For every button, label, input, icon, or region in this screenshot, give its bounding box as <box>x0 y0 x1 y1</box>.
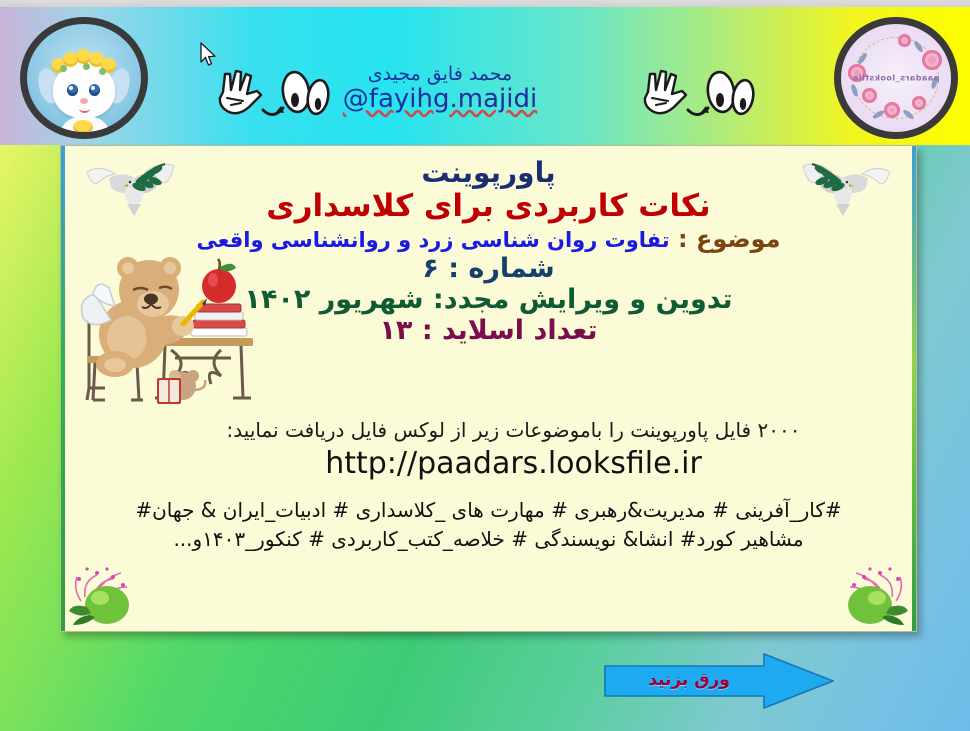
subject-label: موضوع : <box>678 225 781 253</box>
slide-subject-line: موضوع : تفاوت روان شناسی زرد و روانشناسی… <box>61 227 916 253</box>
waving-hand-and-eyes-icon <box>630 62 770 132</box>
confetti-popper-icon <box>67 567 167 629</box>
right-arrow-icon[interactable] <box>604 653 834 709</box>
puppy-mouth-icon <box>79 105 90 113</box>
author-handle[interactable]: @fayihg.majidi <box>340 85 540 114</box>
puppy-nose-icon <box>80 98 88 104</box>
hashtags-block: #کار_آفرینی # مدیریت&رهبری # مهارت های _… <box>101 496 876 554</box>
mouse-cursor-icon <box>200 42 218 68</box>
author-block: محمد فایق مجیدی @fayihg.majidi <box>340 64 540 114</box>
slide-kicker: پاورپوینت <box>61 158 916 188</box>
promo-text: ۲۰۰۰ فایل پاورپوینت را باموضوعات زیر از … <box>151 418 876 442</box>
download-url[interactable]: http://paadars.looksfile.ir <box>151 446 876 481</box>
slide-title: نکات کاربردی برای کلاسداری <box>61 190 916 223</box>
screenshot-canvas: paadars_looksfile محمد فایق مجیدی @fayih… <box>0 0 970 731</box>
promo-block: ۲۰۰۰ فایل پاورپوینت را باموضوعات زیر از … <box>151 418 876 481</box>
puppy-eye-right-icon <box>89 84 100 96</box>
hashtag-line: مشاهیر کورد# انشا& نویسندگی # خلاصه_کتب_… <box>101 525 876 554</box>
brand-logo[interactable]: paadars_looksfile <box>834 17 958 139</box>
wreath-label: paadars_looksfile <box>852 74 939 83</box>
avatar[interactable] <box>20 17 148 139</box>
next-slide-button[interactable]: ورق بزنید <box>604 653 834 709</box>
slide-count: تعداد اسلاید : ۱۳ <box>61 316 916 345</box>
subject-value: تفاوت روان شناسی زرد و روانشناسی واقعی <box>196 228 669 252</box>
puppy-collar-flower-icon <box>73 120 93 134</box>
author-name: محمد فایق مجیدی <box>340 64 540 85</box>
top-grey-strip <box>0 0 970 7</box>
puppy-eye-left-icon <box>67 84 78 96</box>
flower-crown-icon <box>49 52 119 76</box>
confetti-popper-icon <box>810 567 910 629</box>
presentation-slide[interactable]: پاورپوینت نکات کاربردی برای کلاسداری موض… <box>60 145 917 632</box>
hashtag-line: #کار_آفرینی # مدیریت&رهبری # مهارت های _… <box>101 496 876 525</box>
slide-edition-date: تدوین و ویرایش مجدد: شهریور ۱۴۰۲ <box>61 285 916 314</box>
slide-title-block: پاورپوینت نکات کاربردی برای کلاسداری موض… <box>61 158 916 345</box>
waving-hand-and-eyes-icon <box>205 62 345 132</box>
slide-series-number: شماره : ۶ <box>61 254 916 283</box>
